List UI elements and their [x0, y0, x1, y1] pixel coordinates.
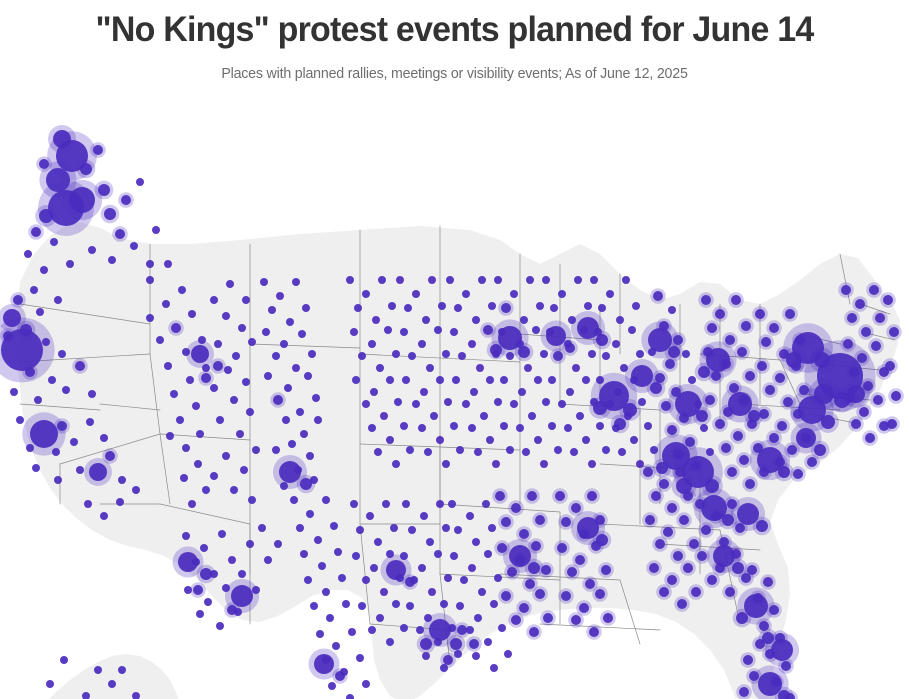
- event-dot[interactable]: [571, 503, 581, 513]
- event-dot[interactable]: [667, 503, 677, 513]
- event-dot[interactable]: [506, 352, 514, 360]
- event-dot[interactable]: [585, 579, 595, 589]
- event-dot[interactable]: [590, 276, 598, 284]
- event-dot[interactable]: [761, 337, 771, 347]
- event-dot[interactable]: [516, 424, 524, 432]
- event-dot[interactable]: [524, 364, 532, 372]
- event-dot[interactable]: [118, 476, 126, 484]
- event-dot[interactable]: [540, 460, 548, 468]
- event-dot[interactable]: [418, 424, 426, 432]
- event-dot[interactable]: [268, 306, 276, 314]
- event-dot[interactable]: [178, 552, 198, 572]
- event-dot[interactable]: [358, 602, 366, 610]
- event-dot[interactable]: [429, 619, 451, 641]
- event-dot[interactable]: [859, 407, 869, 417]
- event-dot[interactable]: [48, 190, 84, 226]
- event-dot[interactable]: [62, 386, 70, 394]
- event-dot[interactable]: [396, 276, 404, 284]
- event-dot[interactable]: [42, 338, 50, 346]
- event-dot[interactable]: [739, 687, 749, 697]
- event-dot[interactable]: [568, 316, 576, 324]
- event-dot[interactable]: [721, 443, 731, 453]
- event-dot[interactable]: [89, 463, 107, 481]
- event-dot[interactable]: [330, 522, 338, 530]
- event-dot[interactable]: [871, 341, 881, 351]
- event-dot[interactable]: [543, 613, 553, 623]
- event-dot[interactable]: [30, 286, 38, 294]
- event-dot[interactable]: [705, 479, 719, 493]
- event-dot[interactable]: [32, 464, 40, 472]
- event-dot[interactable]: [588, 350, 596, 358]
- event-dot[interactable]: [786, 352, 802, 368]
- event-dot[interactable]: [238, 570, 246, 578]
- event-dot[interactable]: [180, 474, 188, 482]
- event-dot[interactable]: [392, 460, 400, 468]
- event-dot[interactable]: [744, 594, 768, 618]
- event-dot[interactable]: [40, 266, 48, 274]
- event-dot[interactable]: [264, 556, 272, 564]
- event-dot[interactable]: [659, 587, 669, 597]
- event-dot[interactable]: [769, 605, 779, 615]
- event-dot[interactable]: [424, 614, 432, 622]
- event-dot[interactable]: [775, 373, 785, 383]
- event-dot[interactable]: [673, 551, 683, 561]
- event-dot[interactable]: [498, 326, 522, 350]
- event-dot[interactable]: [118, 666, 126, 674]
- event-dot[interactable]: [130, 242, 138, 250]
- event-dot[interactable]: [16, 416, 24, 424]
- event-dot[interactable]: [370, 388, 378, 396]
- event-dot[interactable]: [296, 408, 304, 416]
- event-dot[interactable]: [741, 573, 751, 583]
- event-dot[interactable]: [252, 446, 260, 454]
- event-dot[interactable]: [408, 352, 416, 360]
- event-dot[interactable]: [240, 466, 248, 474]
- event-dot[interactable]: [535, 589, 545, 599]
- event-dot[interactable]: [440, 600, 448, 608]
- event-dot[interactable]: [200, 568, 212, 580]
- event-dot[interactable]: [531, 541, 541, 551]
- event-dot[interactable]: [246, 540, 254, 548]
- event-dot[interactable]: [728, 392, 752, 416]
- event-dot[interactable]: [807, 457, 817, 467]
- event-dot[interactable]: [576, 412, 584, 420]
- event-dot[interactable]: [216, 622, 224, 630]
- event-dot[interactable]: [442, 524, 450, 532]
- event-dot[interactable]: [378, 276, 386, 284]
- event-dot[interactable]: [486, 376, 494, 384]
- event-dot[interactable]: [444, 398, 452, 406]
- event-dot[interactable]: [558, 290, 566, 298]
- event-dot[interactable]: [651, 491, 661, 501]
- event-dot[interactable]: [561, 591, 571, 601]
- event-dot[interactable]: [182, 532, 190, 540]
- event-dot[interactable]: [30, 420, 58, 448]
- event-dot[interactable]: [370, 564, 378, 572]
- event-dot[interactable]: [286, 318, 294, 326]
- event-dot[interactable]: [575, 555, 585, 565]
- event-dot[interactable]: [863, 381, 873, 391]
- event-dot[interactable]: [436, 376, 444, 384]
- event-dot[interactable]: [706, 448, 714, 456]
- event-dot[interactable]: [264, 372, 272, 380]
- event-dot[interactable]: [501, 517, 511, 527]
- event-dot[interactable]: [31, 227, 41, 237]
- event-dot[interactable]: [182, 348, 190, 356]
- event-dot[interactable]: [785, 309, 795, 319]
- event-dot[interactable]: [356, 526, 364, 534]
- event-dot[interactable]: [522, 448, 530, 456]
- event-dot[interactable]: [108, 680, 116, 688]
- event-dot[interactable]: [574, 276, 582, 284]
- event-dot[interactable]: [276, 292, 284, 300]
- event-dot[interactable]: [115, 229, 125, 239]
- event-dot[interactable]: [584, 302, 592, 310]
- event-dot[interactable]: [787, 445, 797, 455]
- event-dot[interactable]: [454, 650, 462, 658]
- event-dot[interactable]: [705, 395, 715, 405]
- event-dot[interactable]: [763, 577, 773, 587]
- event-dot[interactable]: [39, 159, 49, 169]
- event-dot[interactable]: [582, 376, 590, 384]
- event-dot[interactable]: [66, 260, 74, 268]
- event-dot[interactable]: [456, 602, 464, 610]
- event-dot[interactable]: [525, 579, 535, 589]
- event-dot[interactable]: [230, 486, 238, 494]
- event-dot[interactable]: [799, 385, 809, 395]
- event-dot[interactable]: [304, 372, 312, 380]
- event-dot[interactable]: [725, 587, 735, 597]
- event-dot[interactable]: [296, 524, 304, 532]
- event-dot[interactable]: [50, 238, 58, 246]
- event-dot[interactable]: [722, 514, 734, 526]
- event-dot[interactable]: [519, 603, 529, 613]
- event-dot[interactable]: [589, 627, 599, 637]
- event-dot[interactable]: [653, 291, 663, 301]
- event-dot[interactable]: [849, 367, 859, 377]
- event-dot[interactable]: [488, 302, 496, 310]
- event-dot[interactable]: [570, 448, 578, 456]
- event-dot[interactable]: [696, 410, 708, 422]
- event-dot[interactable]: [649, 563, 659, 573]
- event-dot[interactable]: [222, 584, 230, 592]
- event-dot[interactable]: [793, 469, 803, 479]
- event-dot[interactable]: [288, 440, 296, 448]
- event-dot[interactable]: [222, 312, 230, 320]
- event-dot[interactable]: [733, 431, 743, 441]
- event-dot[interactable]: [668, 306, 676, 314]
- event-dot[interactable]: [46, 168, 70, 192]
- event-dot[interactable]: [70, 438, 78, 446]
- event-dot[interactable]: [394, 398, 402, 406]
- event-dot[interactable]: [757, 361, 767, 371]
- event-dot[interactable]: [554, 446, 562, 454]
- event-dot[interactable]: [362, 576, 370, 584]
- event-dot[interactable]: [400, 552, 408, 560]
- event-dot[interactable]: [94, 666, 102, 674]
- event-dot[interactable]: [655, 539, 665, 549]
- event-dot[interactable]: [582, 436, 590, 444]
- event-dot[interactable]: [335, 671, 345, 681]
- event-dot[interactable]: [346, 694, 354, 699]
- event-dot[interactable]: [80, 163, 92, 175]
- event-dot[interactable]: [462, 400, 470, 408]
- event-dot[interactable]: [136, 178, 144, 186]
- event-dot[interactable]: [685, 437, 695, 447]
- event-dot[interactable]: [470, 388, 478, 396]
- event-dot[interactable]: [755, 309, 765, 319]
- event-dot[interactable]: [196, 610, 204, 618]
- event-dot[interactable]: [388, 302, 396, 310]
- event-dot[interactable]: [166, 432, 174, 440]
- event-dot[interactable]: [93, 145, 103, 155]
- event-dot[interactable]: [318, 562, 326, 570]
- event-dot[interactable]: [466, 626, 474, 634]
- event-dot[interactable]: [105, 451, 115, 461]
- event-dot[interactable]: [468, 340, 476, 348]
- event-dot[interactable]: [100, 434, 108, 442]
- event-dot[interactable]: [162, 300, 170, 308]
- event-dot[interactable]: [557, 543, 567, 553]
- event-dot[interactable]: [428, 588, 436, 596]
- event-dot[interactable]: [170, 390, 178, 398]
- event-dot[interactable]: [60, 656, 68, 664]
- event-dot[interactable]: [75, 361, 85, 371]
- event-dot[interactable]: [688, 376, 696, 384]
- event-dot[interactable]: [198, 336, 206, 344]
- event-dot[interactable]: [656, 462, 668, 474]
- event-dot[interactable]: [132, 486, 140, 494]
- event-dot[interactable]: [442, 350, 450, 358]
- event-dot[interactable]: [494, 574, 502, 582]
- event-dot[interactable]: [483, 325, 493, 335]
- event-dot[interactable]: [282, 416, 290, 424]
- event-dot[interactable]: [121, 195, 131, 205]
- event-dot[interactable]: [224, 366, 232, 374]
- event-dot[interactable]: [468, 424, 476, 432]
- event-dot[interactable]: [176, 416, 184, 424]
- event-dot[interactable]: [196, 430, 204, 438]
- event-dot[interactable]: [488, 524, 496, 532]
- event-dot[interactable]: [88, 246, 96, 254]
- event-dot[interactable]: [689, 539, 699, 549]
- event-dot[interactable]: [191, 345, 209, 363]
- event-dot[interactable]: [567, 567, 577, 577]
- event-dot[interactable]: [484, 638, 492, 646]
- event-dot[interactable]: [511, 503, 521, 513]
- event-dot[interactable]: [214, 340, 222, 348]
- event-dot[interactable]: [526, 276, 534, 284]
- event-dot[interactable]: [418, 340, 426, 348]
- event-dot[interactable]: [561, 517, 571, 527]
- event-dot[interactable]: [679, 515, 689, 525]
- event-dot[interactable]: [392, 600, 400, 608]
- event-dot[interactable]: [546, 326, 566, 346]
- event-dot[interactable]: [300, 430, 308, 438]
- event-dot[interactable]: [450, 328, 458, 336]
- event-dot[interactable]: [484, 550, 492, 558]
- event-dot[interactable]: [402, 376, 410, 384]
- event-dot[interactable]: [54, 296, 62, 304]
- event-dot[interactable]: [501, 591, 511, 601]
- event-dot[interactable]: [891, 391, 901, 401]
- event-dot[interactable]: [352, 376, 360, 384]
- event-dot[interactable]: [420, 388, 428, 396]
- event-dot[interactable]: [636, 350, 644, 358]
- event-dot[interactable]: [668, 346, 680, 358]
- event-dot[interactable]: [52, 448, 60, 456]
- event-dot[interactable]: [231, 585, 253, 607]
- event-dot[interactable]: [490, 664, 498, 672]
- event-dot[interactable]: [338, 574, 346, 582]
- event-dot[interactable]: [390, 524, 398, 532]
- event-dot[interactable]: [548, 376, 556, 384]
- event-dot[interactable]: [495, 491, 505, 501]
- event-dot[interactable]: [707, 323, 717, 333]
- event-dot[interactable]: [759, 621, 769, 631]
- event-dot[interactable]: [300, 550, 308, 558]
- event-dot[interactable]: [758, 672, 782, 696]
- event-dot[interactable]: [630, 436, 638, 444]
- event-dot[interactable]: [404, 304, 412, 312]
- event-dot[interactable]: [739, 455, 749, 465]
- event-dot[interactable]: [643, 467, 653, 477]
- event-dot[interactable]: [883, 295, 893, 305]
- event-dot[interactable]: [108, 256, 116, 264]
- event-dot[interactable]: [501, 303, 511, 313]
- event-dot[interactable]: [412, 400, 420, 408]
- event-dot[interactable]: [504, 650, 512, 658]
- event-dot[interactable]: [426, 364, 434, 372]
- event-dot[interactable]: [342, 600, 350, 608]
- event-dot[interactable]: [350, 500, 358, 508]
- event-dot[interactable]: [777, 421, 787, 431]
- event-dot[interactable]: [606, 290, 614, 298]
- event-dot[interactable]: [468, 564, 476, 572]
- event-dot[interactable]: [310, 602, 318, 610]
- event-dot[interactable]: [713, 545, 735, 567]
- event-dot[interactable]: [683, 563, 693, 573]
- event-dot[interactable]: [328, 682, 336, 690]
- event-dot[interactable]: [376, 364, 384, 372]
- event-dot[interactable]: [230, 396, 238, 404]
- event-dot[interactable]: [861, 327, 871, 337]
- event-dot[interactable]: [527, 491, 537, 501]
- event-dot[interactable]: [39, 209, 53, 223]
- event-dot[interactable]: [280, 482, 288, 490]
- event-dot[interactable]: [741, 321, 751, 331]
- event-dot[interactable]: [577, 517, 599, 539]
- event-dot[interactable]: [450, 422, 458, 430]
- event-dot[interactable]: [362, 400, 370, 408]
- event-dot[interactable]: [655, 373, 665, 383]
- event-dot[interactable]: [420, 638, 432, 650]
- event-dot[interactable]: [532, 326, 540, 334]
- event-dot[interactable]: [743, 655, 753, 665]
- event-dot[interactable]: [232, 352, 240, 360]
- event-dot[interactable]: [314, 416, 322, 424]
- event-dot[interactable]: [1, 329, 43, 371]
- event-dot[interactable]: [778, 466, 790, 478]
- event-dot[interactable]: [434, 326, 442, 334]
- event-dot[interactable]: [228, 556, 236, 564]
- event-dot[interactable]: [386, 550, 394, 558]
- event-dot[interactable]: [200, 544, 208, 552]
- event-dot[interactable]: [88, 390, 96, 398]
- event-dot[interactable]: [847, 313, 857, 323]
- event-dot[interactable]: [602, 352, 610, 360]
- event-dot[interactable]: [260, 278, 268, 286]
- event-dot[interactable]: [352, 552, 360, 560]
- event-dot[interactable]: [476, 364, 484, 372]
- event-dot[interactable]: [596, 422, 604, 430]
- event-dot[interactable]: [762, 632, 774, 644]
- event-dot[interactable]: [292, 278, 300, 286]
- event-dot[interactable]: [628, 326, 636, 334]
- event-dot[interactable]: [737, 503, 759, 525]
- event-dot[interactable]: [402, 500, 410, 508]
- event-dot[interactable]: [262, 328, 270, 336]
- event-dot[interactable]: [34, 396, 42, 404]
- event-dot[interactable]: [759, 409, 769, 419]
- event-dot[interactable]: [76, 466, 84, 474]
- event-dot[interactable]: [242, 378, 250, 386]
- event-dot[interactable]: [366, 512, 374, 520]
- event-dot[interactable]: [54, 476, 62, 484]
- event-dot[interactable]: [510, 400, 518, 408]
- event-dot[interactable]: [57, 421, 67, 431]
- event-dot[interactable]: [841, 285, 851, 295]
- event-dot[interactable]: [279, 461, 301, 483]
- event-dot[interactable]: [184, 586, 192, 594]
- event-dot[interactable]: [661, 401, 671, 411]
- event-dot[interactable]: [845, 393, 855, 403]
- event-dot[interactable]: [614, 418, 626, 430]
- event-dot[interactable]: [405, 577, 415, 587]
- event-dot[interactable]: [222, 452, 230, 460]
- event-dot[interactable]: [300, 478, 312, 490]
- event-dot[interactable]: [572, 364, 580, 372]
- event-dot[interactable]: [332, 642, 340, 650]
- event-dot[interactable]: [412, 290, 420, 298]
- event-dot[interactable]: [178, 286, 186, 294]
- event-dot[interactable]: [540, 350, 548, 358]
- event-dot[interactable]: [601, 565, 611, 575]
- event-dot[interactable]: [472, 538, 480, 546]
- event-dot[interactable]: [691, 587, 701, 597]
- event-dot[interactable]: [645, 515, 655, 525]
- event-dot[interactable]: [482, 500, 490, 508]
- event-dot[interactable]: [598, 304, 606, 312]
- event-dot[interactable]: [380, 412, 388, 420]
- event-dot[interactable]: [711, 371, 721, 381]
- event-dot[interactable]: [677, 599, 687, 609]
- event-dot[interactable]: [202, 364, 210, 372]
- event-dot[interactable]: [238, 324, 246, 332]
- event-dot[interactable]: [529, 627, 539, 637]
- event-dot[interactable]: [510, 290, 518, 298]
- event-dot[interactable]: [519, 529, 529, 539]
- event-dot[interactable]: [193, 585, 203, 595]
- event-dot[interactable]: [382, 500, 390, 508]
- event-dot[interactable]: [202, 486, 210, 494]
- event-dot[interactable]: [663, 527, 673, 537]
- event-dot[interactable]: [603, 613, 613, 623]
- event-dot[interactable]: [636, 460, 644, 468]
- event-dot[interactable]: [218, 530, 226, 538]
- event-dot[interactable]: [595, 589, 605, 599]
- event-dot[interactable]: [478, 276, 486, 284]
